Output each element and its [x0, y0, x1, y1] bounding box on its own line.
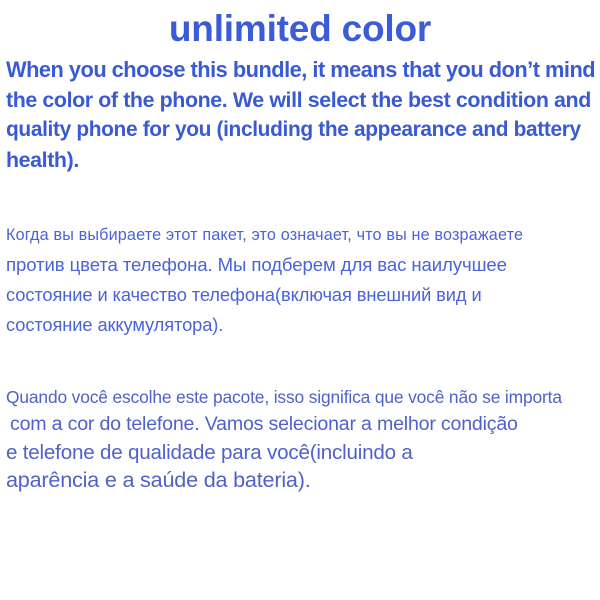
portuguese-line-1: Quando você escolhe este pacote, isso si…: [6, 384, 596, 410]
english-line-3: quality phone for you (including the app…: [6, 115, 596, 145]
description-paragraph-portuguese: Quando você escolhe este pacote, isso si…: [0, 384, 600, 493]
description-paragraph-english: When you choose this bundle, it means th…: [0, 55, 600, 175]
english-line-2: the color of the phone. We will select t…: [6, 85, 596, 115]
portuguese-line-4: aparência e a saúde da bateria).: [6, 466, 596, 493]
english-line-1: When you choose this bundle, it means th…: [6, 55, 596, 85]
promo-banner: unlimited color When you choose this bun…: [0, 0, 600, 600]
russian-line-4: состояние аккумулятора).: [6, 310, 596, 340]
portuguese-line-3: e telefone de qualidade para você(inclui…: [6, 439, 596, 466]
english-line-4: health).: [6, 145, 596, 175]
description-paragraph-russian: Когда вы выбираете этот пакет, это означ…: [0, 220, 600, 340]
page-title: unlimited color: [169, 7, 431, 51]
russian-line-1: Когда вы выбираете этот пакет, это означ…: [6, 220, 596, 250]
portuguese-line-2: com a cor do telefone. Vamos selecionar …: [6, 410, 596, 439]
russian-line-2: против цвета телефона. Мы подберем для в…: [6, 250, 596, 280]
title-block: unlimited color: [0, 0, 600, 51]
russian-line-3: состояние и качество телефона(включая вн…: [6, 280, 596, 310]
